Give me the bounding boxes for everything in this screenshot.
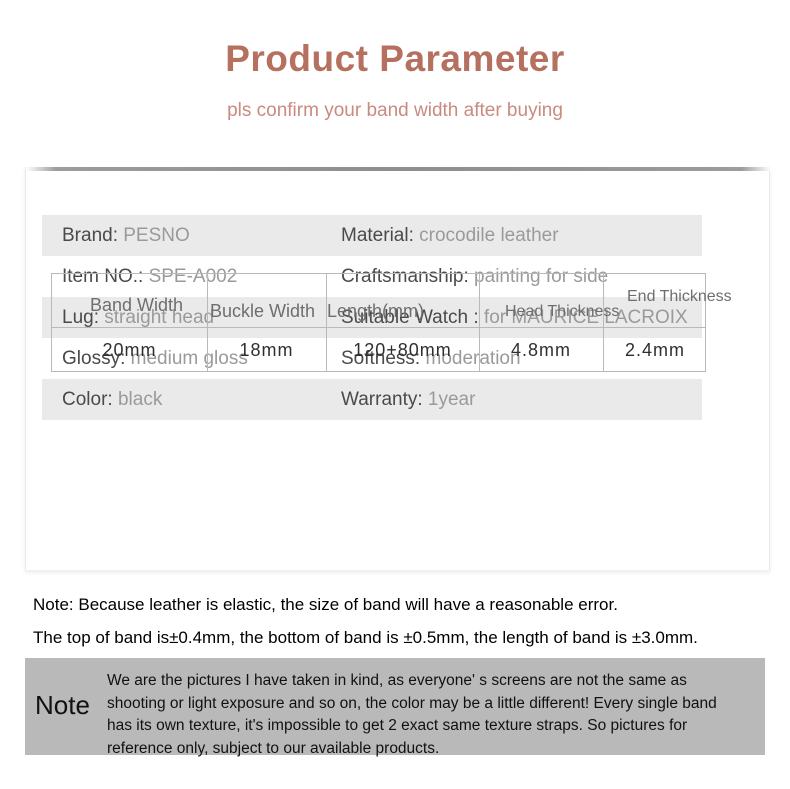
page-header: Product Parameter pls confirm your band … xyxy=(0,0,790,120)
spec-row: Brand: PESNOMaterial: crocodile leather xyxy=(42,215,702,256)
note-box-line: shooting or light exposure and so on, th… xyxy=(107,693,757,716)
page-title: Product Parameter xyxy=(0,40,790,77)
spec-value: 1year xyxy=(423,389,476,410)
note-box-label: Note xyxy=(35,692,90,718)
dimensions-header-cell: End Thickness xyxy=(627,289,732,305)
note-box: Note We are the pictures I have taken in… xyxy=(25,658,765,755)
dimensions-header-cell: Length(mm) xyxy=(327,302,424,320)
dimensions-value-cell: 2.4mm xyxy=(603,341,707,359)
table-column-divider xyxy=(207,274,208,327)
page-subtitle: pls confirm your band width after buying xyxy=(0,101,790,120)
spec-label: Material: xyxy=(341,225,414,246)
spec-value: black xyxy=(113,389,163,410)
spec-cell-right: Material: crocodile leather xyxy=(341,215,559,256)
note-box-line: reference only, subject to our available… xyxy=(107,738,757,761)
dimensions-table-header-row: Band WidthBuckle WidthLength(mm)Head Thi… xyxy=(51,273,706,328)
dimensions-table: Band WidthBuckle WidthLength(mm)Head Thi… xyxy=(51,273,706,372)
note-box-line: We are the pictures I have taken in kind… xyxy=(107,670,757,693)
dimensions-value-cell: 4.8mm xyxy=(479,341,603,359)
dimensions-table-value-row: 20mm18mm120+80mm4.8mm2.4mm xyxy=(51,327,706,372)
spec-cell-left: Color: black xyxy=(62,379,162,420)
note-box-body: We are the pictures I have taken in kind… xyxy=(107,670,757,760)
card-top-accent-bar xyxy=(26,167,771,171)
spec-row: Color: blackWarranty: 1year xyxy=(42,379,702,420)
note-text-line-1: Note: Because leather is elastic, the si… xyxy=(33,596,618,613)
dimensions-value-cell: 20mm xyxy=(52,341,207,359)
dimensions-header-cell: Band Width xyxy=(90,296,183,314)
spec-cell-left: Brand: PESNO xyxy=(62,215,190,256)
note-box-line: has its own texture, it's impossible to … xyxy=(107,715,757,738)
dimensions-header-cell: Buckle Width xyxy=(210,302,315,320)
dimensions-value-cell: 18mm xyxy=(207,341,326,359)
dimensions-value-cell: 120+80mm xyxy=(326,341,479,359)
dimensions-header-cell: Head Thickness xyxy=(505,304,619,320)
spec-label: Brand: xyxy=(62,225,118,246)
spec-value: crocodile leather xyxy=(414,225,559,246)
note-text-line-2: The top of band is±0.4mm, the bottom of … xyxy=(33,629,698,646)
spec-cell-right: Warranty: 1year xyxy=(341,379,475,420)
table-column-divider xyxy=(479,274,480,327)
spec-label: Warranty: xyxy=(341,389,423,410)
spec-label: Color: xyxy=(62,389,113,410)
spec-value: PESNO xyxy=(118,225,190,246)
